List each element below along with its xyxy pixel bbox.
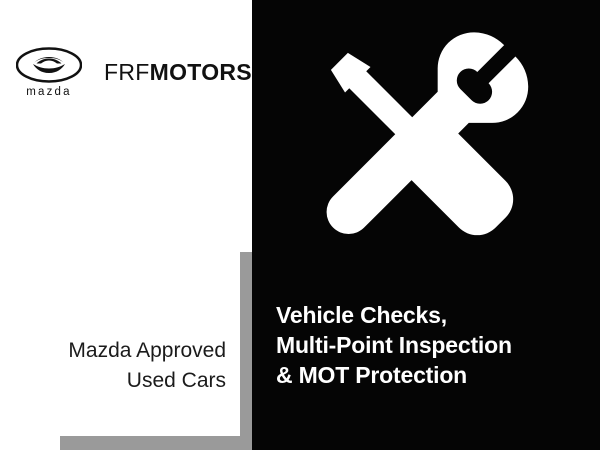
heading-line-3: & MOT Protection	[276, 360, 576, 390]
wrench-and-screwdriver-icon	[295, 22, 545, 262]
mazda-wordmark: mazda	[26, 86, 72, 98]
brand-logo-lockup: mazda FRFMOTORS	[16, 36, 236, 108]
left-panel: mazda FRFMOTORS Mazda Approved Used Cars	[0, 0, 252, 450]
heading-line-2: Multi-Point Inspection	[276, 330, 576, 360]
dealer-name-prefix: FRF	[104, 59, 150, 85]
caption-line-2: Used Cars	[0, 366, 226, 396]
mazda-logo: mazda	[16, 37, 82, 107]
frame-accent-horizontal	[60, 436, 254, 450]
dealer-name: FRFMOTORS	[104, 59, 252, 86]
mazda-oval-logo-icon	[16, 47, 82, 83]
dealer-name-suffix: MOTORS	[150, 59, 252, 85]
services-heading: Vehicle Checks, Multi-Point Inspection &…	[276, 300, 576, 390]
heading-line-1: Vehicle Checks,	[276, 300, 576, 330]
caption-line-1: Mazda Approved	[0, 336, 226, 366]
promo-banner: mazda FRFMOTORS Mazda Approved Used Cars	[0, 0, 600, 450]
approved-used-cars-caption: Mazda Approved Used Cars	[0, 336, 226, 396]
